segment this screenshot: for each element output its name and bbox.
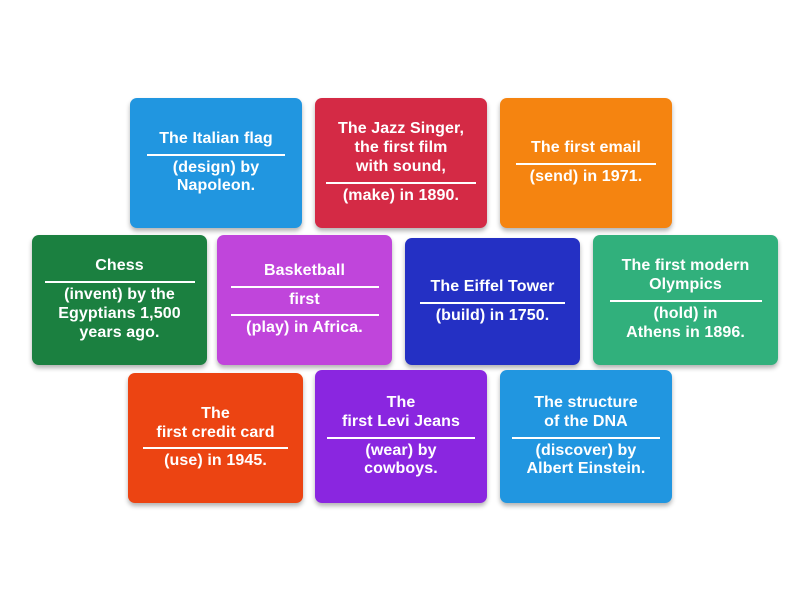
- blank-answer-line: [420, 302, 565, 304]
- blank-answer-line: [327, 437, 475, 439]
- flashcard-tile-first-email[interactable]: The first email(send) in 1971.: [500, 98, 672, 228]
- flashcard-text-line: The structure: [509, 394, 663, 413]
- blank-answer-line: [610, 300, 762, 302]
- blank-answer-line: [326, 182, 476, 184]
- flashcard-text-line: (build) in 1750.: [414, 307, 571, 326]
- flashcard-text-line: The Eiffel Tower: [414, 278, 571, 297]
- blank-answer-line: [231, 286, 379, 288]
- flashcard-tile-jazz-singer[interactable]: The Jazz Singer,the first filmwith sound…: [315, 98, 487, 228]
- blank-answer-line: [516, 163, 656, 165]
- flashcard-text-line: (use) in 1945.: [137, 452, 294, 471]
- flashcard-text-line: Chess: [41, 257, 198, 276]
- flashcard-text-line: (make) in 1890.: [324, 187, 478, 206]
- flashcard-text-line: first Levi Jeans: [324, 413, 478, 432]
- flashcard-text-line: of the DNA: [509, 413, 663, 432]
- flashcard-tile-italian-flag[interactable]: The Italian flag(design) byNapoleon.: [130, 98, 302, 228]
- flashcard-text-line: Athens in 1896.: [602, 324, 769, 343]
- flashcard-text-line: the first film: [324, 139, 478, 158]
- flashcard-text-line: years ago.: [41, 324, 198, 343]
- flashcard-text-line: (wear) by: [324, 442, 478, 461]
- blank-answer-line: [45, 281, 195, 283]
- flashcard-tile-first-credit-card[interactable]: Thefirst credit card(use) in 1945.: [128, 373, 303, 503]
- flashcard-text-line: Basketball: [226, 262, 383, 281]
- flashcard-text-line: (discover) by: [509, 442, 663, 461]
- flashcard-text-line: Napoleon.: [139, 177, 293, 196]
- flashcard-text-line: The: [324, 394, 478, 413]
- flashcard-text-line: (invent) by the: [41, 286, 198, 305]
- flashcard-text-line: The Jazz Singer,: [324, 120, 478, 139]
- flashcard-tile-eiffel-tower[interactable]: The Eiffel Tower(build) in 1750.: [405, 238, 580, 365]
- flashcard-text-line: Olympics: [602, 276, 769, 295]
- flashcard-text-line: (design) by: [139, 159, 293, 178]
- flashcard-text-line: first: [226, 291, 383, 310]
- flashcard-tile-first-modern-olympics[interactable]: The first modernOlympics(hold) inAthens …: [593, 235, 778, 365]
- blank-answer-line: [143, 447, 288, 449]
- flashcard-tile-dna-structure[interactable]: The structureof the DNA(discover) byAlbe…: [500, 370, 672, 503]
- flashcard-text-line: The first email: [509, 139, 663, 158]
- flashcard-text-line: Egyptians 1,500: [41, 305, 198, 324]
- flashcard-text-line: first credit card: [137, 424, 294, 443]
- flashcard-text-line: with sound,: [324, 158, 478, 177]
- flashcard-board: The Italian flag(design) byNapoleon.The …: [0, 0, 800, 600]
- flashcard-text-line: (send) in 1971.: [509, 168, 663, 187]
- flashcard-text-line: (hold) in: [602, 305, 769, 324]
- flashcard-text-line: cowboys.: [324, 460, 478, 479]
- flashcard-text-line: Albert Einstein.: [509, 460, 663, 479]
- blank-answer-line: [512, 437, 660, 439]
- blank-answer-line: [147, 154, 285, 156]
- flashcard-tile-chess[interactable]: Chess(invent) by theEgyptians 1,500years…: [32, 235, 207, 365]
- flashcard-tile-first-levi-jeans[interactable]: Thefirst Levi Jeans(wear) bycowboys.: [315, 370, 487, 503]
- flashcard-text-line: (play) in Africa.: [226, 319, 383, 338]
- blank-answer-line: [231, 314, 379, 316]
- flashcard-text-line: The Italian flag: [139, 130, 293, 149]
- flashcard-text-line: The first modern: [602, 257, 769, 276]
- flashcard-tile-basketball[interactable]: Basketballfirst(play) in Africa.: [217, 235, 392, 365]
- flashcard-text-line: The: [137, 405, 294, 424]
